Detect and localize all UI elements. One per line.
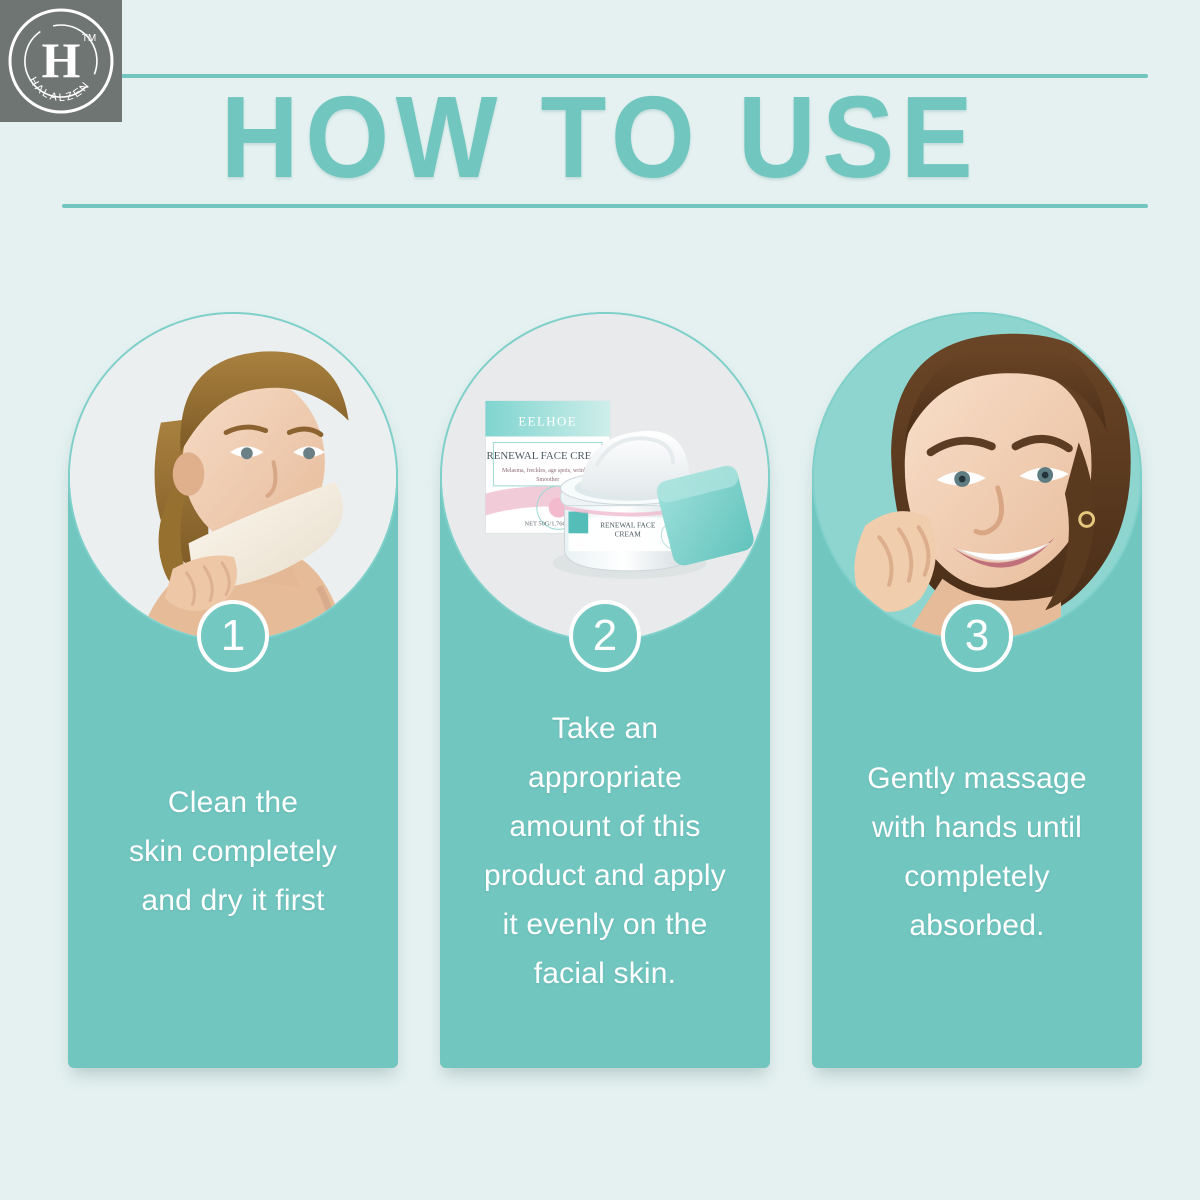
svg-text:TM: TM [82, 33, 96, 44]
step-3-photo [812, 312, 1142, 642]
page-header: HOW TO USE [0, 0, 1200, 230]
step-card-2[interactable]: EELHOE RENEWAL FACE CREAM Melasma, freck… [440, 312, 770, 1068]
svg-text:EELHOE: EELHOE [518, 415, 577, 429]
brand-logo: H TM HALALZEN [0, 0, 122, 122]
step-1-text: Clean the skin completely and dry it fir… [76, 778, 390, 925]
step-3-number-badge: 3 [941, 600, 1013, 672]
step-3-text: Gently massage with hands until complete… [820, 754, 1134, 950]
step-2-photo: EELHOE RENEWAL FACE CREAM Melasma, freck… [440, 312, 770, 642]
svg-text:Melasma, freckles, age spots,: Melasma, freckles, age spots, wrinkles [502, 467, 594, 474]
step-card-3[interactable]: 3 Gently massage with hands until comple… [812, 312, 1142, 1068]
step-2-number-badge: 2 [569, 600, 641, 672]
woman-towel-illustration [70, 314, 396, 640]
svg-text:CREAM: CREAM [615, 529, 642, 538]
step-1-number-badge: 1 [197, 600, 269, 672]
svg-text:H: H [42, 32, 81, 88]
face-cream-product-illustration: EELHOE RENEWAL FACE CREAM Melasma, freck… [442, 314, 768, 640]
step-2-text: Take an appropriate amount of this produ… [448, 704, 762, 998]
step-1-photo [68, 312, 398, 642]
header-rule-bottom [62, 204, 1148, 208]
page-title: HOW TO USE [42, 78, 1158, 196]
halalzen-logo-icon: H TM HALALZEN [5, 5, 117, 117]
svg-text:RENEWAL FACE: RENEWAL FACE [600, 520, 656, 529]
smiling-woman-illustration [814, 314, 1140, 640]
step-card-1[interactable]: 1 Clean the skin completely and dry it f… [68, 312, 398, 1068]
svg-text:Smoother: Smoother [536, 477, 559, 483]
